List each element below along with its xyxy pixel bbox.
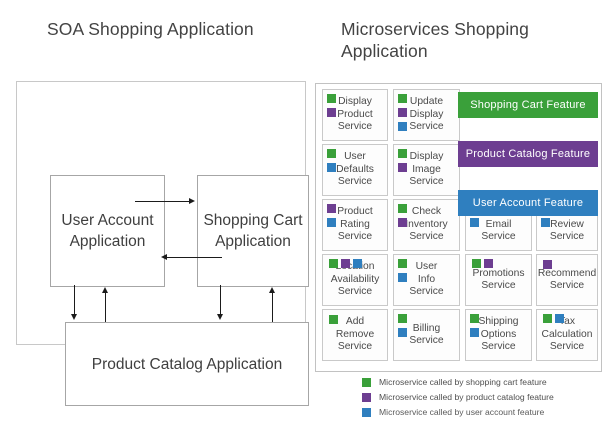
microservice-add-remove-service[interactable]: Add Remove Service (322, 309, 388, 361)
microservice-user-info-service[interactable]: User Info Service (393, 254, 460, 306)
microservice-display-image-service[interactable]: Display Image Service (393, 144, 460, 196)
soa-box-label: Shopping Cart Application (198, 210, 308, 252)
feature-label: Shopping Cart Feature (470, 99, 586, 111)
legend-product-catalog: Microservice called by product catalog f… (362, 391, 606, 405)
legend-label: Microservice called by shopping cart fea… (379, 376, 547, 388)
diagram-canvas: SOA Shopping Application Microservices S… (0, 0, 606, 423)
soa-box-product-catalog-application: Product Catalog Application (65, 322, 309, 406)
soa-box-shopping-cart-application: Shopping Cart Application (197, 175, 309, 287)
feature-label: User Account Feature (473, 197, 583, 209)
microservice-user-defaults-service[interactable]: User Defaults Service (322, 144, 388, 196)
legend-label: Microservice called by product catalog f… (379, 391, 554, 403)
blue-indicator-icon (327, 163, 336, 172)
arrow-user-to-catalog-line (74, 285, 75, 315)
purple-indicator-icon (398, 163, 407, 172)
arrow-catalog-to-cart-head (269, 287, 275, 293)
arrow-cart-to-catalog-line (220, 285, 221, 315)
green-indicator-icon (329, 315, 338, 324)
purple-indicator-icon (327, 204, 336, 213)
arrow-user-to-cart-line (135, 201, 190, 202)
feature-user-account-feature[interactable]: User Account Feature (458, 190, 598, 216)
legend-swatch-icon (362, 378, 371, 387)
microservice-update-display-service[interactable]: Update Display Service (393, 89, 460, 141)
microservice-recommend-service[interactable]: Recommend Service (536, 254, 598, 306)
soa-box-label: User Account Application (51, 210, 164, 252)
green-indicator-icon (470, 314, 479, 323)
blue-indicator-icon (541, 218, 550, 227)
microservice-check-inventory-service[interactable]: Check Inventory Service (393, 199, 460, 251)
microservice-product-rating-service[interactable]: Product Rating Service (322, 199, 388, 251)
blue-indicator-icon (470, 218, 479, 227)
arrow-cart-to-user-head (161, 254, 167, 260)
feature-shopping-cart-feature[interactable]: Shopping Cart Feature (458, 92, 598, 118)
soa-box-label: Product Catalog Application (92, 354, 282, 375)
arrow-cart-to-catalog-head (217, 314, 223, 320)
arrow-catalog-to-user-head (102, 287, 108, 293)
legend-swatch-icon (362, 393, 371, 402)
blue-indicator-icon (327, 218, 336, 227)
arrow-catalog-to-user-line (105, 292, 106, 322)
green-indicator-icon (398, 149, 407, 158)
legend-user-account: Microservice called by user account feat… (362, 406, 606, 420)
blue-indicator-icon (470, 328, 479, 337)
legend-swatch-icon (362, 408, 371, 417)
green-indicator-icon (398, 94, 407, 103)
arrow-catalog-to-cart-line (272, 292, 273, 322)
green-indicator-icon (543, 314, 552, 323)
microservice-billing-service[interactable]: Billing Service (393, 309, 460, 361)
blue-indicator-icon (555, 314, 564, 323)
blue-indicator-icon (398, 328, 407, 337)
legend-label: Microservice called by user account feat… (379, 406, 544, 418)
feature-product-catalog-feature[interactable]: Product Catalog Feature (458, 141, 598, 167)
green-indicator-icon (472, 259, 481, 268)
green-indicator-icon (327, 94, 336, 103)
microservice-promotions-service[interactable]: Promotions Service (465, 254, 532, 306)
legend-shopping-cart: Microservice called by shopping cart fea… (362, 376, 606, 390)
microservice-location-availability-service[interactable]: Location Availability Service (322, 254, 388, 306)
purple-indicator-icon (543, 260, 552, 269)
microservice-shipping-options-service[interactable]: Shipping Options Service (465, 309, 532, 361)
green-indicator-icon (327, 149, 336, 158)
soa-box-user-account-application: User Account Application (50, 175, 165, 287)
microservice-tax-calculation-service[interactable]: Tax Calculation Service (536, 309, 598, 361)
green-indicator-icon (398, 204, 407, 213)
blue-indicator-icon (398, 273, 407, 282)
microservice-display-product-service[interactable]: Display Product Service (322, 89, 388, 141)
purple-indicator-icon (398, 108, 407, 117)
microservices-panel: Display Product ServiceUpdate Display Se… (315, 83, 602, 372)
arrow-user-to-catalog-head (71, 314, 77, 320)
blue-indicator-icon (398, 122, 407, 131)
green-indicator-icon (398, 259, 407, 268)
page-title-microservices: Microservices Shopping Application (341, 18, 573, 62)
soa-panel: User Account Application Shopping Cart A… (16, 81, 306, 345)
arrow-cart-to-user-line (167, 257, 222, 258)
green-indicator-icon (329, 259, 338, 268)
arrow-user-to-cart-head (189, 198, 195, 204)
feature-label: Product Catalog Feature (466, 148, 590, 160)
purple-indicator-icon (327, 108, 336, 117)
blue-indicator-icon (353, 259, 362, 268)
page-title-soa: SOA Shopping Application (47, 18, 307, 40)
purple-indicator-icon (484, 259, 493, 268)
green-indicator-icon (398, 314, 407, 323)
purple-indicator-icon (341, 259, 350, 268)
purple-indicator-icon (398, 218, 407, 227)
legend: Microservice called by shopping cart fea… (362, 376, 606, 421)
